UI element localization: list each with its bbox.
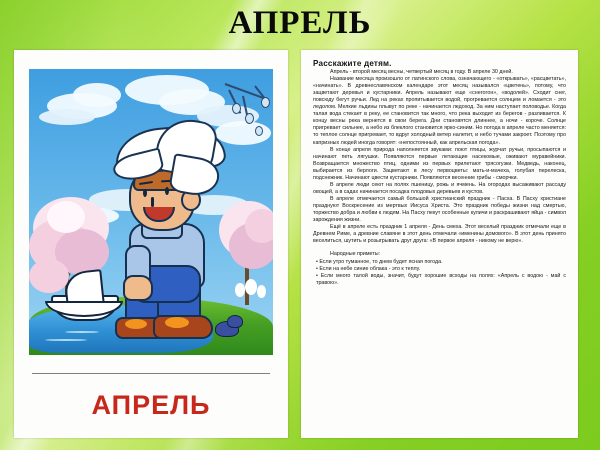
article-heading: Расскажите детям. [313, 60, 566, 67]
folk-omens-section: Народные приметы: • Если утро туманное, … [313, 251, 566, 287]
article-body: Расскажите детям. Апрель - второй месяц … [313, 60, 566, 428]
boy-eye-left [143, 189, 147, 197]
bud-icon [245, 113, 254, 124]
boy-nose [151, 197, 154, 207]
article-paragraph: В конце апреля природа наполняется звука… [313, 147, 566, 182]
right-card: Расскажите детям. Апрель - второй месяц … [301, 50, 578, 438]
blossom-cluster [245, 209, 273, 243]
bud-icon [261, 97, 270, 108]
blossom-cluster [47, 201, 85, 233]
white-flower [245, 279, 257, 295]
article-paragraph: Название месяца произошло от латинского … [313, 76, 566, 146]
white-flower [235, 283, 245, 297]
article-paragraph: Ещё в апреле есть праздник 1 апреля - Де… [313, 224, 566, 245]
blossom-cluster [29, 259, 69, 293]
boy-shoe-toe-left [125, 319, 147, 329]
article-paragraph: В апреле отмечается самый большой христи… [313, 196, 566, 224]
article-paragraph: В апреле люди сеют на полях пшеницу, рож… [313, 182, 566, 196]
folk-omen-item: • Если много талой воды, значит, будут х… [313, 273, 566, 287]
folk-omen-item: • Если утро туманное, то днем будет ясна… [313, 259, 566, 266]
bud-icon [232, 103, 241, 114]
boy-shoe-toe-right [165, 317, 189, 328]
cloud-icon [73, 83, 121, 107]
folk-omens-title: Народные приметы: [313, 251, 566, 258]
cloud-icon [39, 109, 95, 125]
page-title: АПРЕЛЬ [0, 2, 600, 44]
caption-divider [32, 373, 270, 374]
water-ripple [65, 331, 99, 333]
water-ripple [45, 339, 87, 341]
white-flower [257, 285, 266, 298]
article-paragraph: Апрель - второй месяц весны, четвертый м… [313, 69, 566, 76]
left-card: АПРЕЛЬ [14, 50, 288, 438]
illustration-spring-boy [29, 69, 273, 355]
left-card-caption: АПРЕЛЬ [14, 390, 288, 421]
boy-hand [123, 275, 153, 301]
slide-root: АПРЕЛЬ [0, 0, 600, 450]
bird-icon [227, 315, 243, 328]
boy-eye-right [165, 187, 169, 195]
bud-icon [255, 126, 263, 136]
